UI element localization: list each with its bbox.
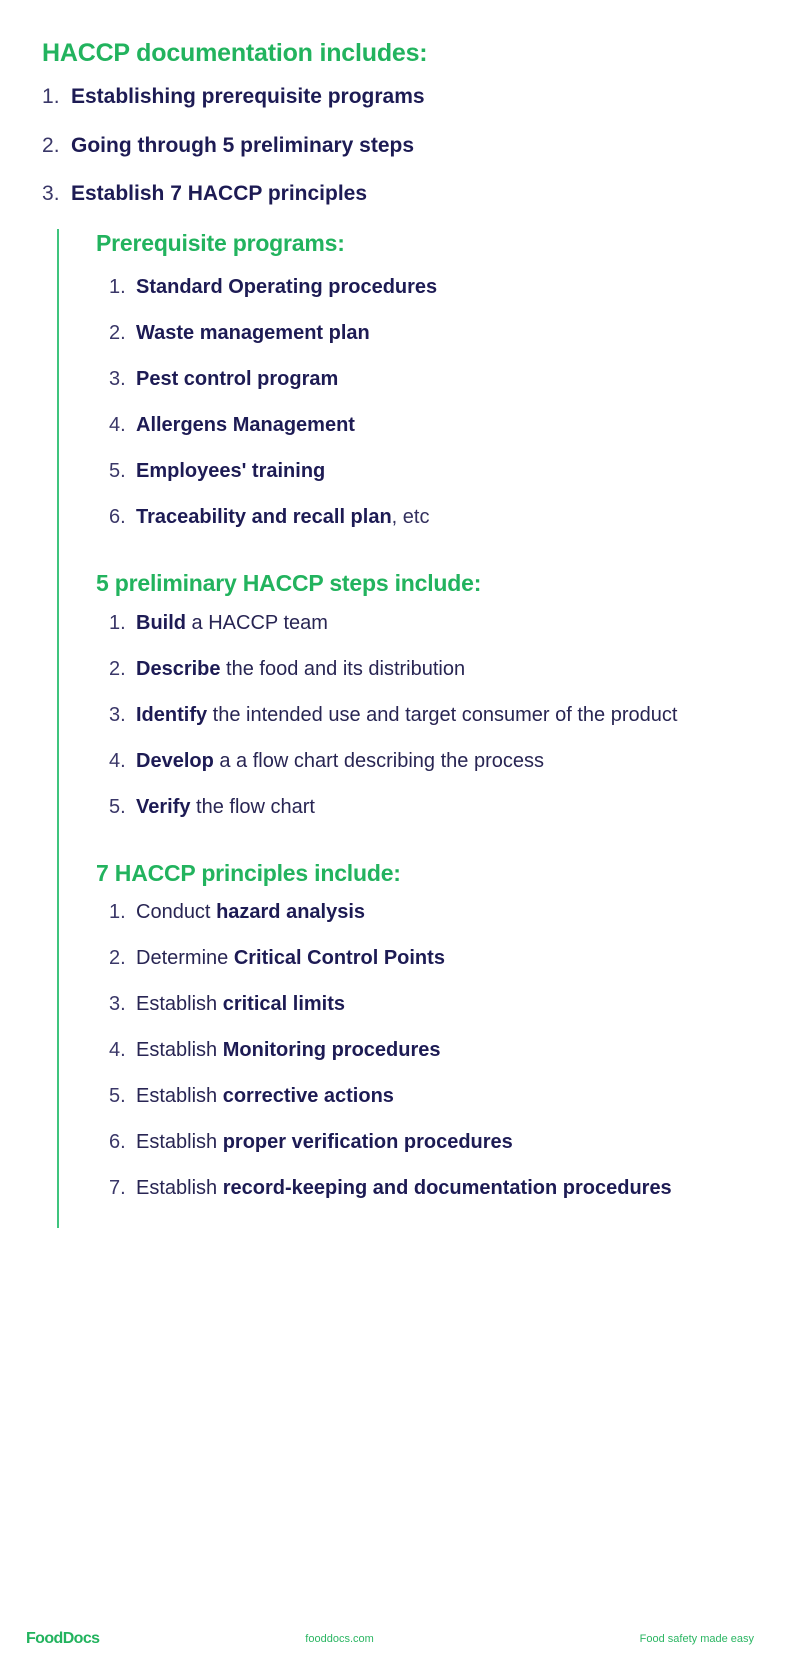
item-bold-text: corrective actions <box>223 1085 394 1107</box>
item-lead-text: Establish <box>136 1085 223 1107</box>
list-item: Establish record-keeping and documentati… <box>109 1175 800 1202</box>
list-item: Traceability and recall plan, etc <box>109 504 800 531</box>
list-item: Determine Critical Control Points <box>109 945 800 972</box>
list-item: Pest control program <box>109 366 800 393</box>
list-item: Conduct hazard analysis <box>109 899 800 926</box>
item-bold-text: Traceability and recall plan <box>136 506 392 528</box>
fooddocs-logo: FoodDocs <box>26 1630 99 1648</box>
item-bold-text: Pest control program <box>136 368 338 390</box>
list-item: Verify the flow chart <box>109 794 800 821</box>
item-bold-text: Waste management plan <box>136 322 370 344</box>
item-bold-text: Monitoring procedures <box>223 1039 441 1061</box>
section-heading: 5 preliminary HACCP steps include: <box>96 569 800 598</box>
list-item: Standard Operating procedures <box>109 274 800 301</box>
footer-website: fooddocs.com <box>99 1633 639 1645</box>
top-level-section: HACCP documentation includes: Establishi… <box>0 0 800 207</box>
footer: FoodDocs fooddocs.com Food safety made e… <box>0 1626 800 1652</box>
item-regular-text: , etc <box>392 506 430 528</box>
section-haccp-principles: 7 HACCP principles include: Conduct haza… <box>59 859 800 1229</box>
item-bold-text: Describe <box>136 658 221 680</box>
list-item: Establish critical limits <box>109 991 800 1018</box>
item-lead-text: Determine <box>136 947 234 969</box>
haccp-principles-list: Conduct hazard analysis Determine Critic… <box>96 899 800 1202</box>
section-heading: 7 HACCP principles include: <box>96 859 800 888</box>
list-item: Establish 7 HACCP principles <box>42 180 760 207</box>
list-item: Establish proper verification procedures <box>109 1129 800 1156</box>
item-regular-text: a a flow chart describing the process <box>214 750 544 772</box>
list-item: Waste management plan <box>109 320 800 347</box>
detail-sections-group: Prerequisite programs: Standard Operatin… <box>57 229 800 1228</box>
list-item: Going through 5 preliminary steps <box>42 132 760 159</box>
section-heading: Prerequisite programs: <box>96 229 800 258</box>
list-item: Establishing prerequisite programs <box>42 83 760 110</box>
item-lead-text: Establish <box>136 1177 223 1199</box>
section-bottom-spacer <box>96 1202 800 1228</box>
footer-tagline: Food safety made easy <box>640 1633 776 1645</box>
haccp-documentation-infographic: HACCP documentation includes: Establishi… <box>0 0 800 1668</box>
item-bold-text: Employees' training <box>136 460 325 482</box>
list-item: Employees' training <box>109 458 800 485</box>
preliminary-steps-list: Build a HACCP team Describe the food and… <box>96 610 800 821</box>
item-bold-text: Standard Operating procedures <box>136 276 437 298</box>
list-item: Allergens Management <box>109 412 800 439</box>
section-preliminary-steps: 5 preliminary HACCP steps include: Build… <box>59 569 800 821</box>
item-regular-text: the food and its distribution <box>221 658 466 680</box>
prerequisite-programs-list: Standard Operating procedures Waste mana… <box>96 274 800 531</box>
item-lead-text: Establish <box>136 993 223 1015</box>
item-bold-text: Verify <box>136 796 190 818</box>
list-item: Develop a a flow chart describing the pr… <box>109 748 800 775</box>
item-bold-text: proper verification procedures <box>223 1131 513 1153</box>
item-lead-text: Establish <box>136 1131 223 1153</box>
item-regular-text: a HACCP team <box>186 612 328 634</box>
documentation-list: Establishing prerequisite programs Going… <box>42 83 760 207</box>
item-bold-text: hazard analysis <box>216 901 365 923</box>
item-regular-text: the intended use and target consumer of … <box>207 704 677 726</box>
item-bold-text: Build <box>136 612 186 634</box>
item-bold-text: Develop <box>136 750 214 772</box>
section-prerequisite-programs: Prerequisite programs: Standard Operatin… <box>59 229 800 531</box>
item-bold-text: Identify <box>136 704 207 726</box>
list-item: Establish corrective actions <box>109 1083 800 1110</box>
item-bold-text: critical limits <box>223 993 345 1015</box>
item-bold-text: Allergens Management <box>136 414 355 436</box>
item-bold-text: Critical Control Points <box>234 947 445 969</box>
list-item: Build a HACCP team <box>109 610 800 637</box>
item-lead-text: Conduct <box>136 901 216 923</box>
item-regular-text: the flow chart <box>190 796 315 818</box>
item-bold-text: record-keeping and documentation procedu… <box>223 1177 672 1199</box>
list-item: Describe the food and its distribution <box>109 656 800 683</box>
list-item: Establish Monitoring procedures <box>109 1037 800 1064</box>
page-title: HACCP documentation includes: <box>42 38 760 69</box>
item-lead-text: Establish <box>136 1039 223 1061</box>
list-item: Identify the intended use and target con… <box>109 702 800 729</box>
